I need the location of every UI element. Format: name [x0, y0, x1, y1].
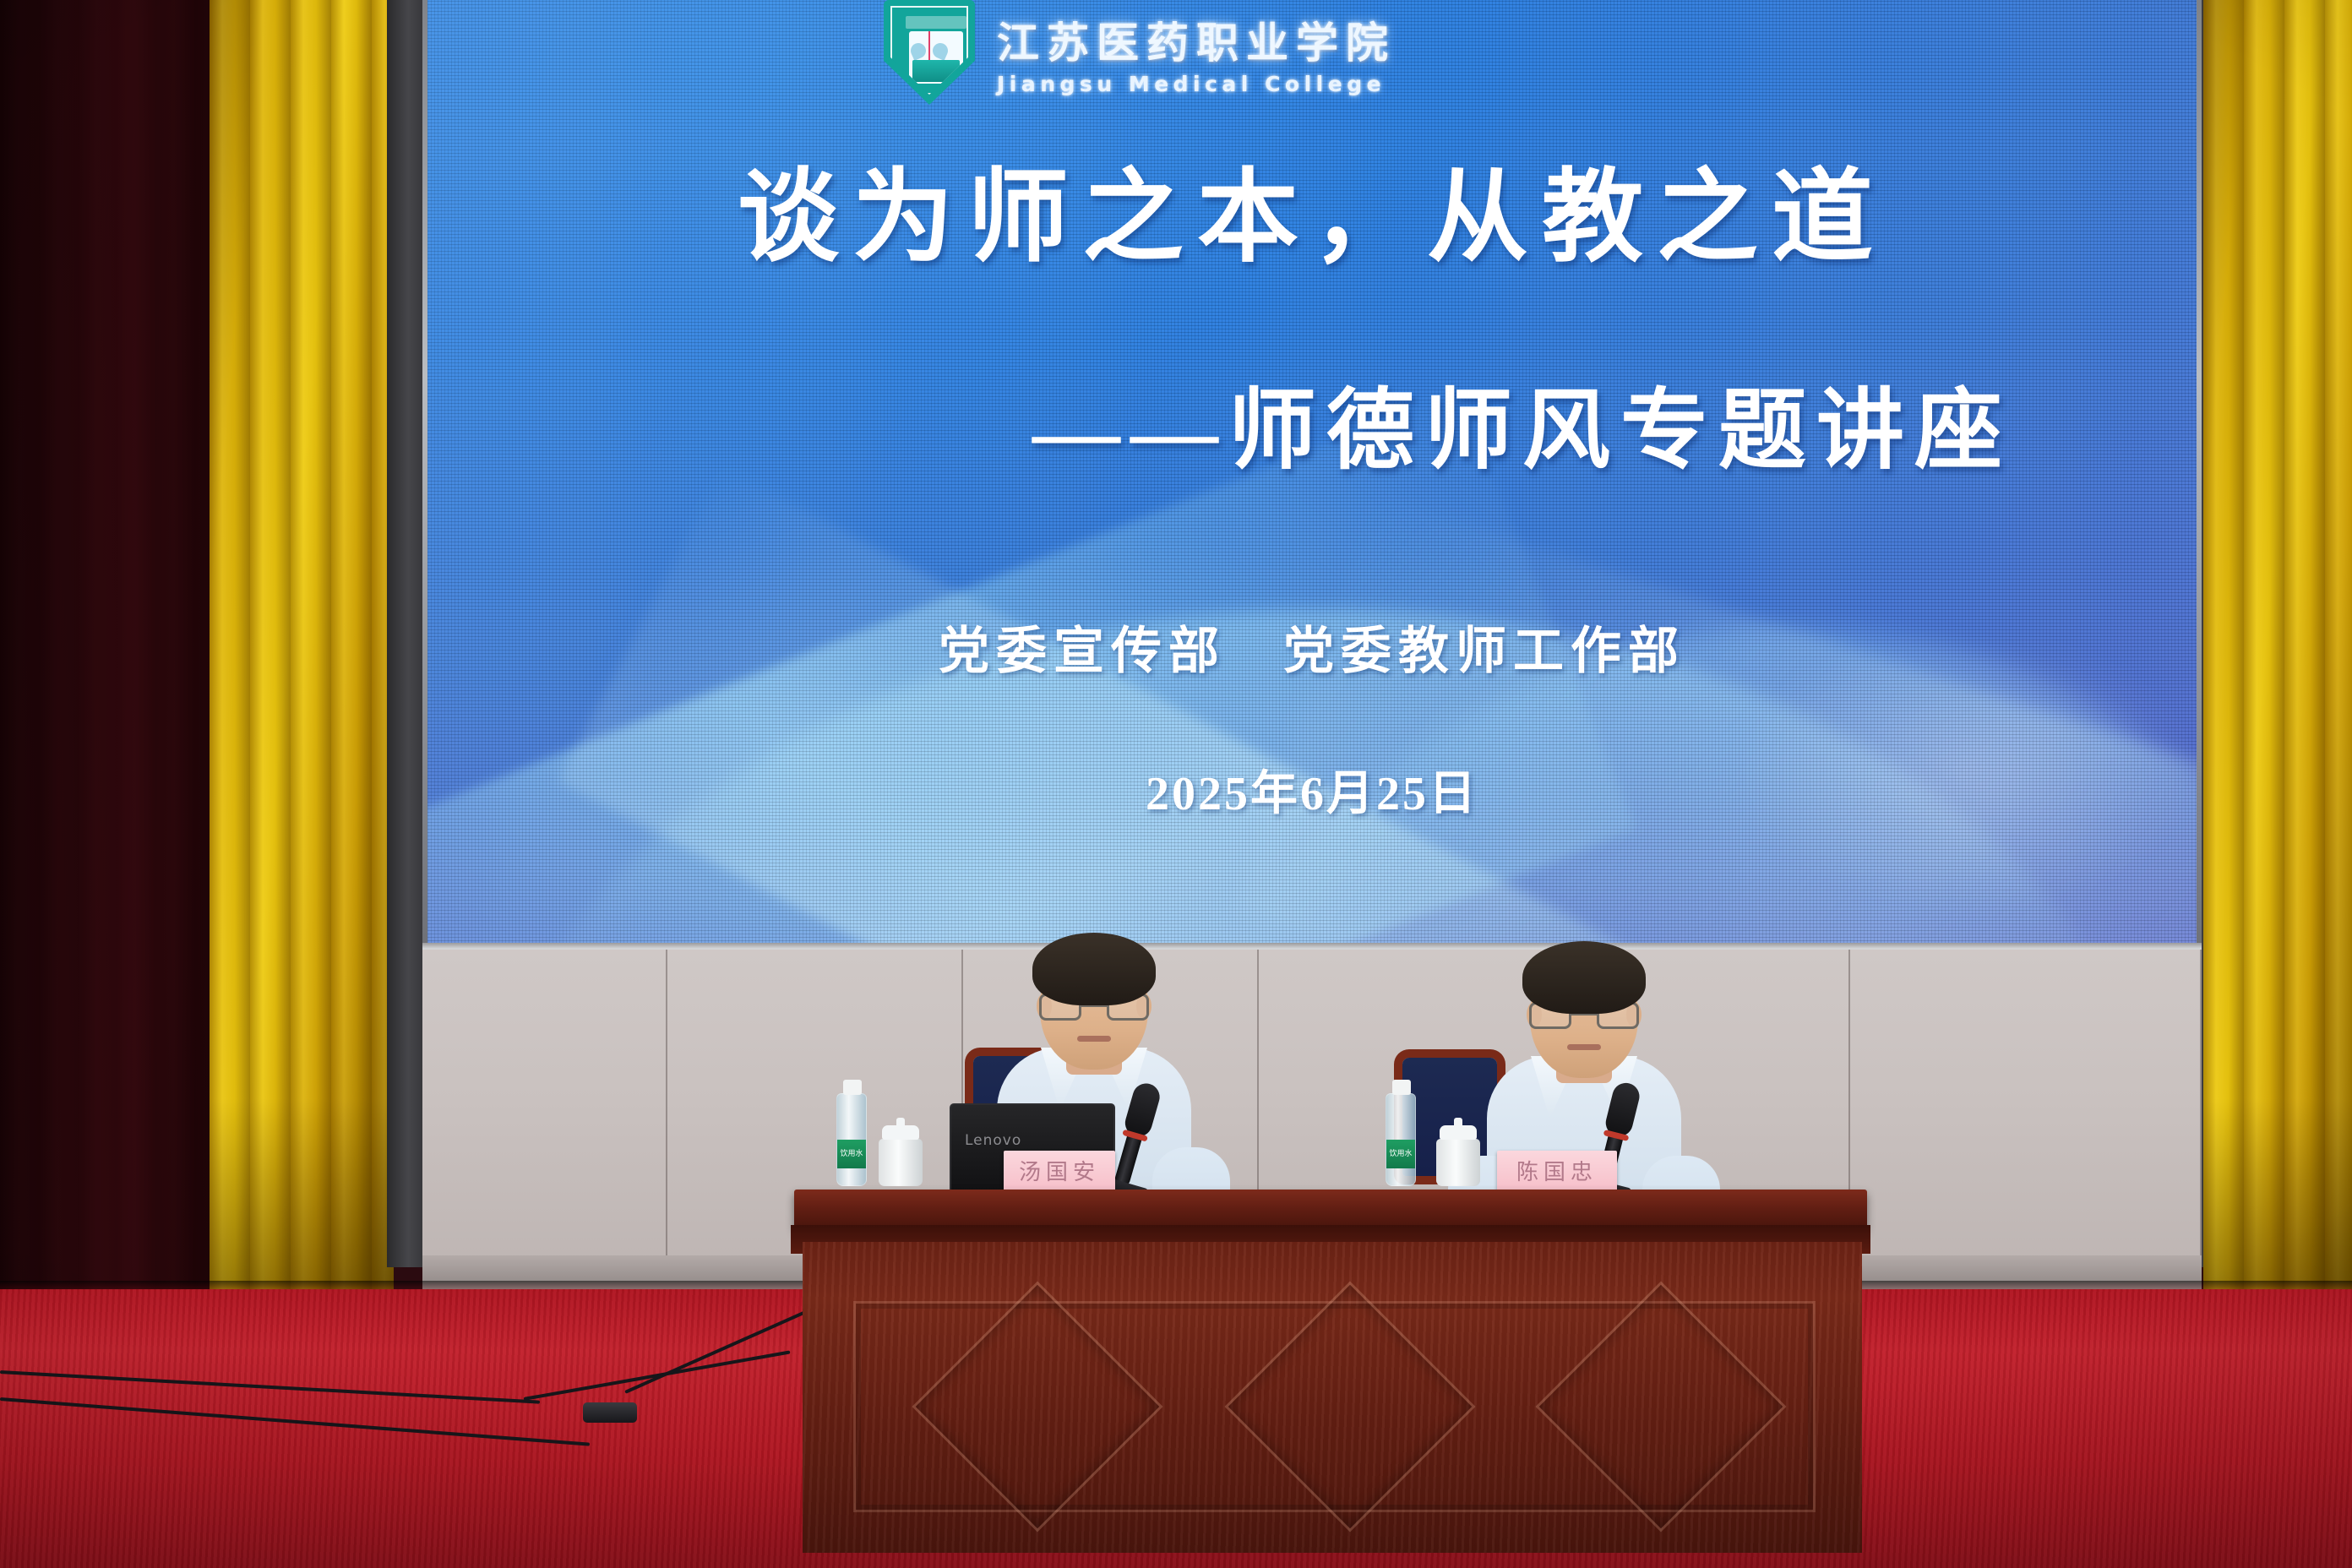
led-screen: 江苏医药职业学院 Jiangsu Medical College 谈为师之本，从…	[427, 0, 2197, 948]
gold-stage-curtain-right	[2203, 0, 2352, 1318]
conference-stage-scene: 江苏医药职业学院 Jiangsu Medical College 谈为师之本，从…	[0, 0, 2352, 1568]
dark-red-back-curtain-shadow	[0, 0, 210, 1318]
name-card-left: 汤国安	[1004, 1151, 1115, 1193]
table-diamond-panel	[1536, 1282, 1787, 1533]
slide-content: 江苏医药职业学院 Jiangsu Medical College 谈为师之本，从…	[427, 0, 2197, 948]
led-screen-frame: 江苏医药职业学院 Jiangsu Medical College 谈为师之本，从…	[422, 0, 2202, 953]
wall-panel	[1850, 950, 2202, 1288]
teacup-right	[1436, 1139, 1480, 1186]
water-bottle-left: 饮用水	[836, 1093, 867, 1186]
college-logo-icon	[884, 0, 975, 105]
name-card-right: 陈国忠	[1497, 1151, 1617, 1193]
bottle-label: 饮用水	[1386, 1140, 1415, 1168]
wall-panel	[422, 950, 667, 1288]
table-diamond-panel	[912, 1282, 1163, 1533]
water-bottle-right: 饮用水	[1386, 1093, 1416, 1186]
slide-departments: 党委宣传部 党委教师工作部	[427, 610, 2197, 683]
institution-name-en: Jiangsu Medical College	[997, 72, 1396, 96]
floor-cable	[0, 1370, 540, 1404]
head-table-top	[794, 1190, 1867, 1228]
slide-main-title: 谈为师之本，从教之道	[427, 134, 2197, 281]
slide-sub-title: ——师德师风专题讲座	[1032, 358, 2012, 486]
bottle-label: 饮用水	[837, 1140, 866, 1168]
table-diamond-panel	[1225, 1282, 1476, 1533]
institution-name-cn: 江苏医药职业学院	[997, 9, 1396, 70]
floor-cable-connector	[583, 1402, 637, 1423]
teacup-left	[879, 1139, 923, 1186]
college-brand-header: 江苏医药职业学院 Jiangsu Medical College	[884, 0, 1396, 105]
head-table-inset-frame	[853, 1301, 1816, 1512]
gold-stage-curtain-left	[210, 0, 394, 1318]
floor-cable	[0, 1397, 590, 1446]
head-table-front-panel	[803, 1242, 1862, 1553]
laptop-brand-label: Lenovo	[965, 1132, 1021, 1149]
logo-top-banner-text	[906, 16, 966, 29]
slide-date: 2025年6月25日	[427, 755, 2197, 824]
